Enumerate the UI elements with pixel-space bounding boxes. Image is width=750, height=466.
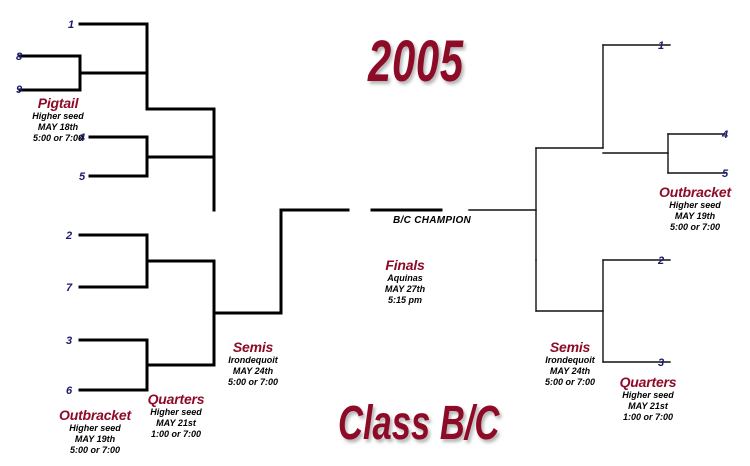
right-round-quarters-detail: Higher seed [600, 390, 696, 401]
seed-number: 5 [79, 172, 85, 183]
right-round-quarters-detail: MAY 21st [600, 401, 696, 412]
left-round-outbracket-detail: 5:00 or 7:00 [47, 445, 143, 456]
tournament-bracket-page: 189452736 14523 PigtailHigher seedMAY 18… [0, 0, 750, 466]
seed-number: 4 [722, 130, 728, 141]
left-round-quarters-title: Quarters [128, 392, 224, 407]
seed-number: 1 [658, 41, 664, 52]
left-round-quarters-detail: Higher seed [128, 407, 224, 418]
seed-number: 3 [66, 336, 72, 347]
left-round-semis-title: Semis [205, 340, 301, 355]
left-round-quarters: QuartersHigher seedMAY 21st1:00 or 7:00 [128, 392, 224, 440]
center-round-undefined-detail: 5:15 pm [357, 295, 453, 306]
seed-number: 7 [66, 283, 72, 294]
right-round-quarters-title: Quarters [600, 375, 696, 390]
center-round-undefined-detail: MAY 27th [357, 284, 453, 295]
center-round-undefined-detail: Aquinas [357, 273, 453, 284]
left-round-pigtail: PigtailHigher seedMAY 18th5:00 or 7:00 [10, 96, 106, 144]
seed-number: 2 [66, 231, 72, 242]
left-round-pigtail-title: Pigtail [10, 96, 106, 111]
right-round-outbracket-detail: MAY 19th [645, 211, 745, 222]
right-round-quarters: QuartersHigher seedMAY 21st1:00 or 7:00 [600, 375, 696, 423]
seed-number: 6 [66, 386, 72, 397]
right-round-semis-detail: Irondequoit [522, 355, 618, 366]
champion-label: B/C CHAMPION [393, 215, 471, 226]
left-round-quarters-detail: MAY 21st [128, 418, 224, 429]
right-round-outbracket-title: Outbracket [645, 185, 745, 200]
right-round-outbracket-detail: 5:00 or 7:00 [645, 222, 745, 233]
left-round-semis-detail: MAY 24th [205, 366, 301, 377]
left-round-semis: SemisIrondequoitMAY 24th5:00 or 7:00 [205, 340, 301, 388]
left-round-quarters-detail: 1:00 or 7:00 [128, 429, 224, 440]
seed-number: 5 [722, 169, 728, 180]
left-round-pigtail-detail: Higher seed [10, 111, 106, 122]
left-round-pigtail-detail: 5:00 or 7:00 [10, 133, 106, 144]
class-title: Class B/C [338, 400, 499, 448]
left-round-semis-detail: Irondequoit [205, 355, 301, 366]
right-round-quarters-detail: 1:00 or 7:00 [600, 412, 696, 423]
seed-number: 2 [658, 256, 664, 267]
left-round-semis-detail: 5:00 or 7:00 [205, 377, 301, 388]
year-title: 2005 [368, 33, 464, 91]
seed-number: 8 [16, 52, 22, 63]
right-round-semis-title: Semis [522, 340, 618, 355]
center-round-undefined: FinalsAquinasMAY 27th5:15 pm [357, 258, 453, 306]
seed-number: 3 [658, 358, 664, 369]
seed-number: 1 [68, 20, 74, 31]
left-round-pigtail-detail: MAY 18th [10, 122, 106, 133]
center-round-undefined-title: Finals [357, 258, 453, 273]
seed-number: 9 [16, 85, 22, 96]
right-round-outbracket-detail: Higher seed [645, 200, 745, 211]
right-round-outbracket: OutbracketHigher seedMAY 19th5:00 or 7:0… [645, 185, 745, 233]
